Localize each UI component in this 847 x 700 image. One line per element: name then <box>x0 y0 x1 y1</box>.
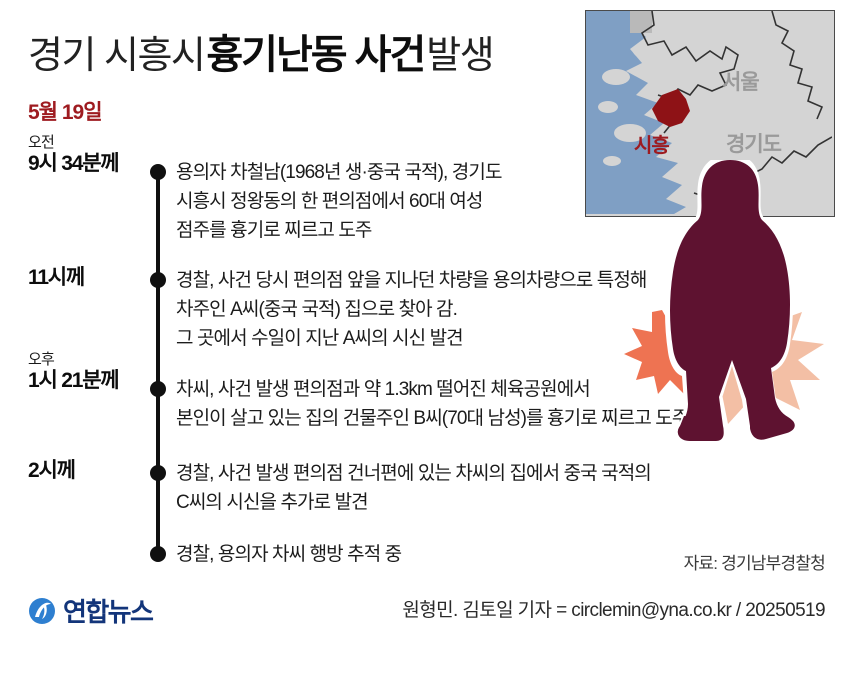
timeline-body-line: 경찰, 사건 발생 편의점 건너편에 있는 차씨의 집에서 중국 국적의 <box>176 459 651 488</box>
map-label-gyeonggi: 경기도 <box>726 128 781 158</box>
source-note: 자료: 경기남부경찰청 <box>684 549 825 574</box>
timeline-body-line: 본인이 살고 있는 집의 건물주인 B씨(70대 남성)를 흉기로 찌르고 도주 <box>176 404 688 433</box>
timeline-time-4: 2시께 <box>28 459 168 483</box>
page-title: 경기 시흥시 흉기난동 사건 발생 <box>28 22 588 78</box>
timeline-ampm: 오후 <box>28 351 168 369</box>
timeline-body-line: 시흥시 정왕동의 한 편의점에서 60대 여성 <box>176 187 502 216</box>
map-island <box>598 101 618 113</box>
timeline-time-2: 11시께 <box>28 266 168 290</box>
timeline-body-line: 경찰, 사건 당시 편의점 앞을 지나던 차량을 용의차량으로 특정해 <box>176 266 647 295</box>
timeline-body-line: 그 곳에서 수일이 지난 A씨의 시신 발견 <box>176 324 647 353</box>
timeline-body-line: 용의자 차철남(1968년 생·중국 국적), 경기도 <box>176 158 502 187</box>
date-label: 5월 19일 <box>28 96 102 126</box>
map-incheon <box>630 11 652 33</box>
timeline-body-3: 차씨, 사건 발생 편의점과 약 1.3km 떨어진 체육공원에서 본인이 살고… <box>176 375 688 433</box>
map-label-siheung: 시흥 <box>634 129 669 158</box>
map-island <box>602 69 630 85</box>
yonhap-logo[interactable]: 연합뉴스 <box>26 592 152 629</box>
timeline-body-1: 용의자 차철남(1968년 생·중국 국적), 경기도 시흥시 정왕동의 한 편… <box>176 158 502 245</box>
map-island <box>603 156 621 166</box>
yonhap-logo-text: 연합뉴스 <box>63 592 152 629</box>
timeline-time-1: 오전 9시 34분께 <box>28 134 168 176</box>
person-shoe-right <box>750 408 795 440</box>
timeline-clock: 9시 34분께 <box>28 152 168 176</box>
timeline-body-line: 차주인 A씨(중국 국적) 집으로 찾아 감. <box>176 295 647 324</box>
credit-line: 원형민. 김토일 기자 = circlemin@yna.co.kr / 2025… <box>402 595 825 622</box>
map-label-seoul: 서울 <box>722 66 759 96</box>
timeline-body-line: 차씨, 사건 발생 편의점과 약 1.3km 떨어진 체육공원에서 <box>176 375 688 404</box>
map-island <box>633 44 655 58</box>
title-part-1: 경기 시흥시 <box>28 24 204 79</box>
timeline-body-line: 경찰, 용의자 차씨 행방 추적 중 <box>176 540 401 569</box>
timeline-body-5: 경찰, 용의자 차씨 행방 추적 중 <box>176 540 401 569</box>
infographic-root: 경기 시흥시 흉기난동 사건 발생 5월 19일 오전 9시 34분께 용의자 … <box>0 0 847 700</box>
title-part-3: 발생 <box>426 24 493 79</box>
title-part-2-emphasis: 흉기난동 사건 <box>206 22 424 80</box>
logo-circle <box>29 598 55 624</box>
timeline-body-line: 점주를 흉기로 찌르고 도주 <box>176 216 502 245</box>
timeline-body-2: 경찰, 사건 당시 편의점 앞을 지나던 차량을 용의차량으로 특정해 차주인 … <box>176 266 647 353</box>
timeline-dot <box>150 546 166 562</box>
map-inset: 서울 경기도 시흥 <box>585 10 835 217</box>
timeline-ampm: 오전 <box>28 134 168 152</box>
timeline-body-4: 경찰, 사건 발생 편의점 건너편에 있는 차씨의 집에서 중국 국적의 C씨의… <box>176 459 651 517</box>
map-svg <box>586 11 832 214</box>
timeline-clock: 2시께 <box>28 459 168 483</box>
timeline-time-3: 오후 1시 21분께 <box>28 351 168 393</box>
timeline-clock: 1시 21분께 <box>28 369 168 393</box>
timeline-clock: 11시께 <box>28 266 168 290</box>
timeline-body-line: C씨의 시신을 추가로 발견 <box>176 488 651 517</box>
yonhap-swirl-icon <box>26 595 58 627</box>
